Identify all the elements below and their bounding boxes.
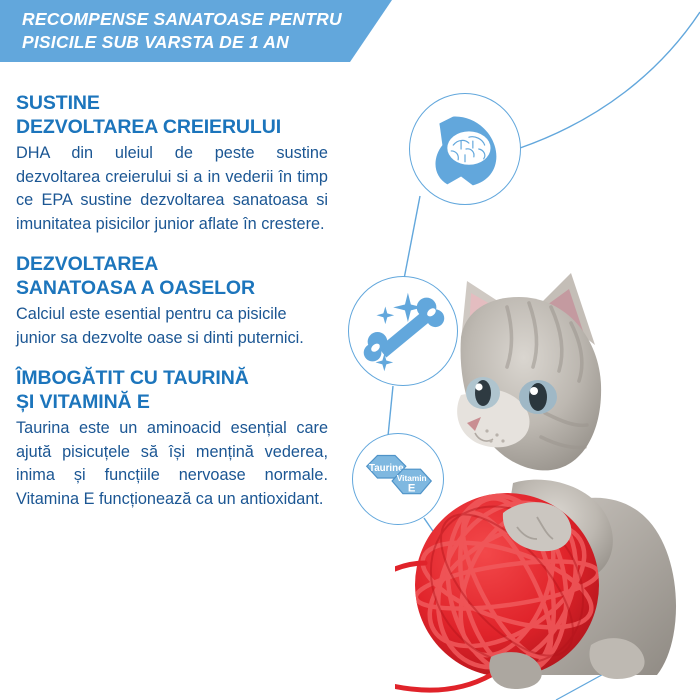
- bone-sparkle-icon: [348, 276, 458, 386]
- feature-list: SUSTINE DEZVOLTAREA CREIERULUI DHA din u…: [16, 92, 328, 528]
- feature-body-taurine: Taurina este un aminoacid esențial care …: [16, 417, 328, 511]
- taurine-vitamin-e-hexagons-icon: Taurine Vitamin E: [352, 433, 444, 525]
- feature-body-bones: Calciul este esential pentru ca pisicile…: [16, 303, 328, 350]
- hexagon-label-e: E: [408, 483, 416, 495]
- feature-title-taurine: ÎMBOGĂTIT CU TAURINĂ ȘI VITAMINĂ E: [16, 367, 328, 414]
- promo-infographic: RECOMPENSE SANATOASE PENTRU PISICILE SUB…: [0, 0, 700, 700]
- line-bone-to-vitamin: [388, 386, 393, 436]
- feature-block-taurine: ÎMBOGĂTIT CU TAURINĂ ȘI VITAMINĂ E Tauri…: [16, 367, 328, 511]
- header-banner-title: RECOMPENSE SANATOASE PENTRU PISICILE SUB…: [22, 8, 372, 54]
- feature-title-bones: DEZVOLTAREA SANATOASA A OASELOR: [16, 253, 328, 300]
- hexagon-label-vitamin: Vitamin: [397, 473, 427, 483]
- feature-body-brain: DHA din uleiul de peste sustine dezvolta…: [16, 142, 328, 236]
- feature-block-bones: DEZVOLTAREA SANATOASA A OASELOR Calciul …: [16, 253, 328, 350]
- feature-block-brain: SUSTINE DEZVOLTAREA CREIERULUI DHA din u…: [16, 92, 328, 236]
- feature-title-brain: SUSTINE DEZVOLTAREA CREIERULUI: [16, 92, 328, 139]
- cat-head-brain-icon: [409, 93, 521, 205]
- arc-line-top-right: [520, 12, 700, 148]
- kitten-head: [457, 273, 601, 470]
